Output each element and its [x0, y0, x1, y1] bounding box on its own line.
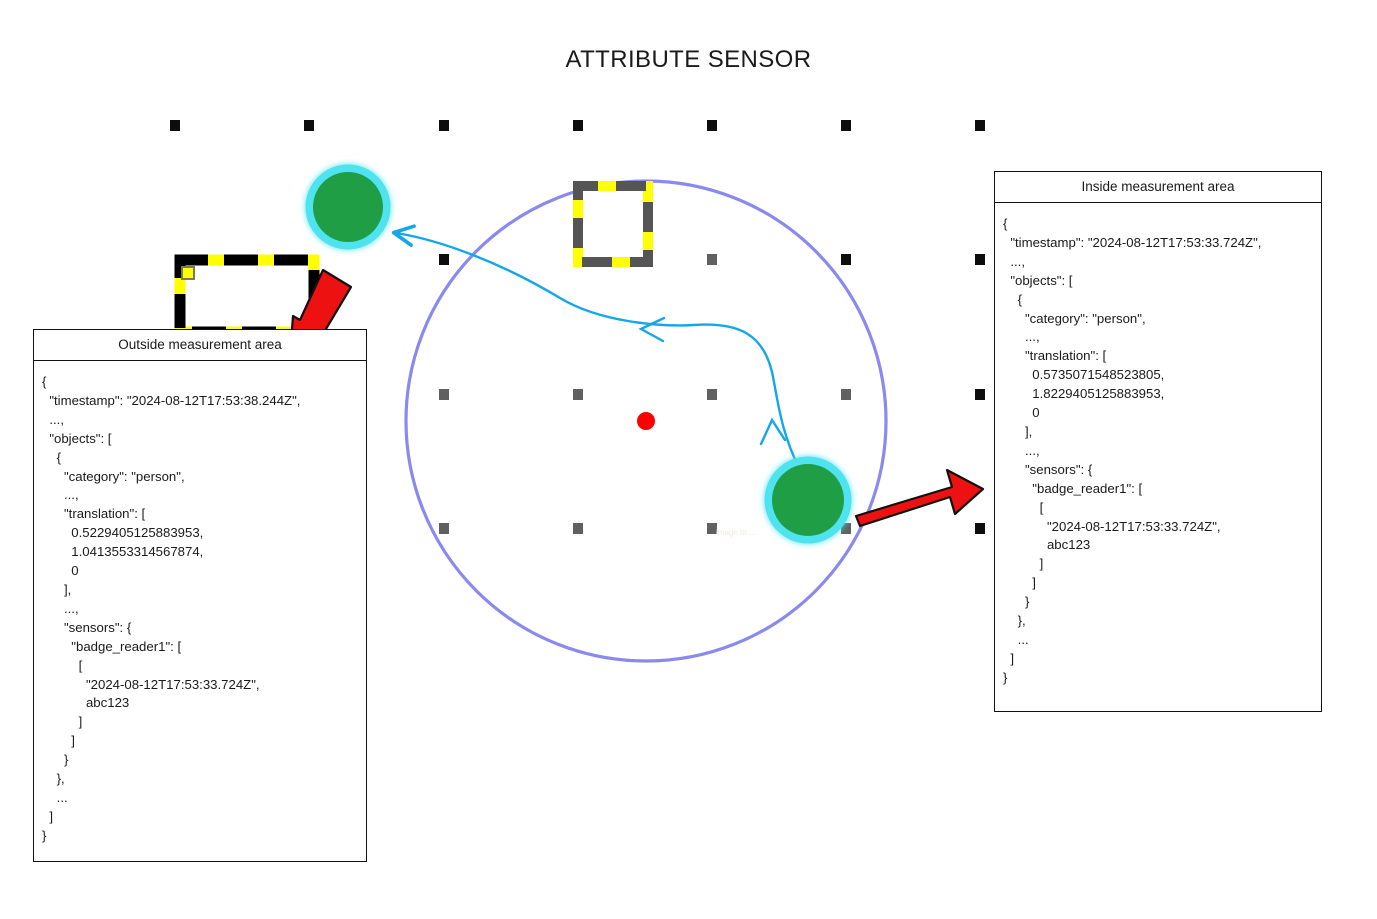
outside-panel-header: Outside measurement area	[34, 330, 366, 361]
inside-measurement-panel: Inside measurement area { "timestamp": "…	[994, 171, 1322, 712]
ghost-text-artifact: image to ...	[716, 528, 756, 537]
diagram-canvas: ATTRIBUTE SENSOR	[0, 0, 1377, 919]
outside-panel-json: { "timestamp": "2024-08-12T17:53:38.244Z…	[34, 361, 366, 856]
inside-panel-header: Inside measurement area	[995, 172, 1321, 203]
inside-panel-json: { "timestamp": "2024-08-12T17:53:33.724Z…	[995, 203, 1321, 698]
callout-arrow-inside	[856, 470, 983, 526]
origin-marker	[637, 412, 655, 430]
sensor-zone-inside	[578, 186, 648, 262]
outside-measurement-panel: Outside measurement area { "timestamp": …	[33, 329, 367, 862]
person-outside-object[interactable]	[310, 169, 386, 245]
motion-path-arrow	[396, 233, 800, 470]
person-inside-object[interactable]	[769, 461, 847, 539]
